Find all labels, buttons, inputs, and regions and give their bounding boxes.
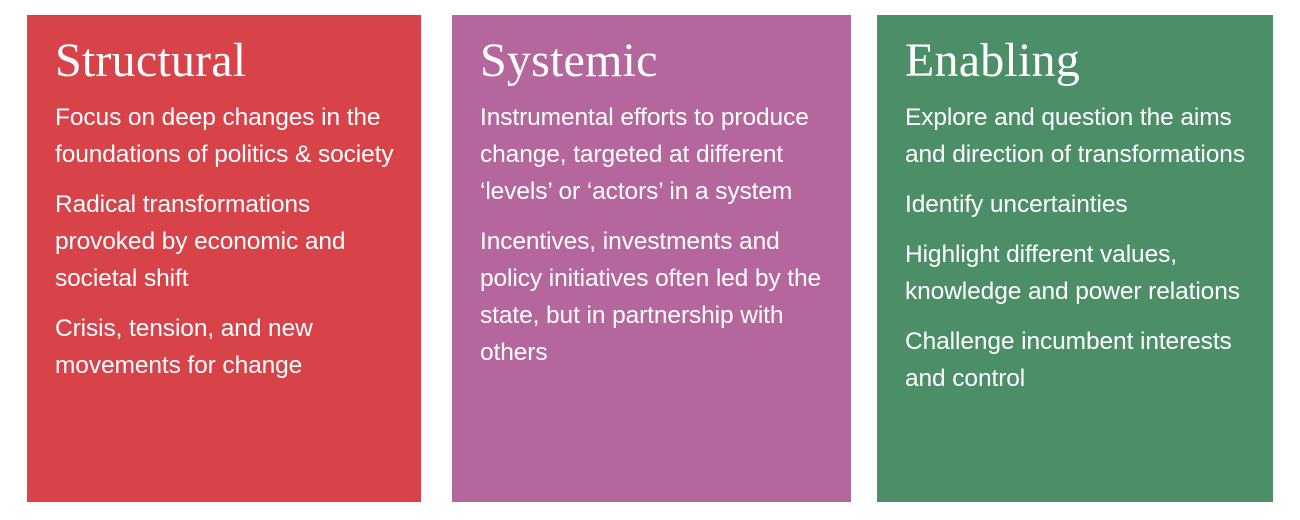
panel-paragraph: Incentives, investments and policy initi… [480,223,827,371]
panel-body-systemic: Instrumental efforts to produce change, … [480,99,827,371]
panel-paragraph: Explore and question the aims and direct… [905,99,1249,173]
panel-paragraph: Instrumental efforts to produce change, … [480,99,827,210]
panel-title-structural: Structural [55,37,397,85]
panel-paragraph: Identify uncertainties [905,186,1249,223]
panel-paragraph: Crisis, tension, and new movements for c… [55,310,397,384]
panel-body-structural: Focus on deep changes in the foundations… [55,99,397,384]
panel-enabling: Enabling Explore and question the aims a… [877,15,1273,502]
panel-structural: Structural Focus on deep changes in the … [27,15,421,502]
panel-paragraph: Challenge incumbent interests and contro… [905,323,1249,397]
panel-paragraph: Focus on deep changes in the foundations… [55,99,397,173]
panel-systemic: Systemic Instrumental efforts to produce… [452,15,851,502]
panel-paragraph: Radical transformations provoked by econ… [55,186,397,297]
panel-title-enabling: Enabling [905,37,1249,85]
panel-paragraph: Highlight different values, knowledge an… [905,236,1249,310]
three-panel-diagram: Structural Focus on deep changes in the … [0,0,1300,520]
panel-title-systemic: Systemic [480,37,827,85]
panel-body-enabling: Explore and question the aims and direct… [905,99,1249,397]
